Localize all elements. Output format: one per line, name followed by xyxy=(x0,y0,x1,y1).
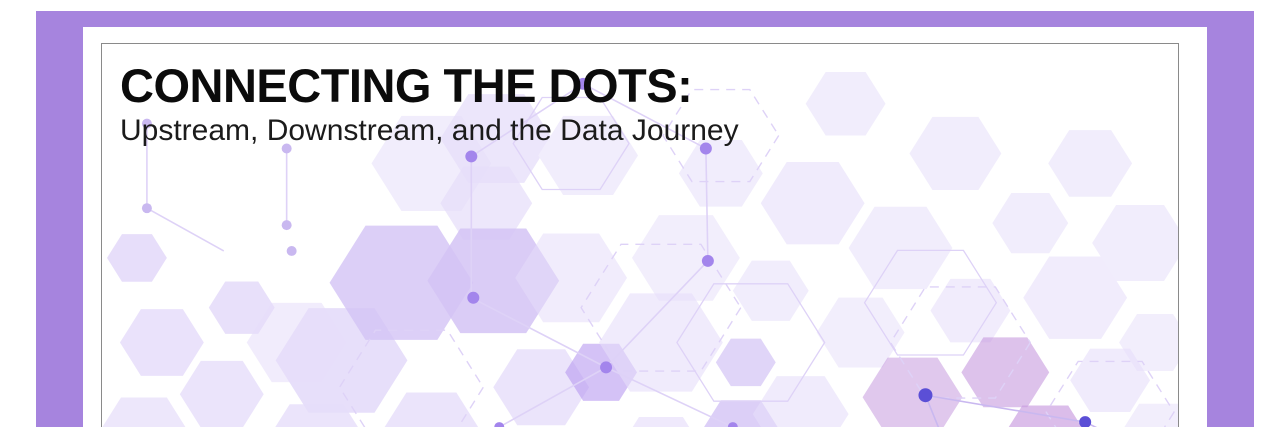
hexagon-shape xyxy=(276,308,408,413)
hexagon-shape xyxy=(1023,257,1127,339)
hexagon-shape xyxy=(679,140,763,207)
node-edge xyxy=(706,148,708,260)
hexagon-shape xyxy=(1118,404,1178,427)
hexagon-shape xyxy=(102,398,190,427)
hexagon-shape xyxy=(617,417,705,427)
hexagon-outline xyxy=(865,250,997,355)
page-title: CONNECTING THE DOTS: xyxy=(120,62,739,109)
hexagon-shape xyxy=(330,226,474,340)
title-block: CONNECTING THE DOTS: Upstream, Downstrea… xyxy=(120,62,739,147)
hexagon-shape xyxy=(806,72,886,135)
hexagon-shape xyxy=(263,404,371,427)
node-edge xyxy=(606,367,733,427)
node-edge xyxy=(606,261,708,367)
hexagon-shape xyxy=(381,392,481,427)
node-dot xyxy=(467,292,479,304)
hexagon-shape xyxy=(1092,205,1178,281)
hexagon-shape xyxy=(1119,314,1178,371)
hexagon-shape xyxy=(440,167,532,240)
node-dot xyxy=(1079,416,1091,427)
hexagon-shape xyxy=(493,349,589,425)
node-edge xyxy=(499,367,606,427)
hexagon-shape xyxy=(120,309,204,376)
slide-content-page: CONNECTING THE DOTS: Upstream, Downstrea… xyxy=(101,43,1179,427)
hexagon-shape xyxy=(701,400,781,427)
hexagon-shape xyxy=(761,162,865,244)
node-dot xyxy=(918,388,932,402)
node-edge xyxy=(147,208,224,251)
hexagon-dashed-outline xyxy=(340,330,484,427)
node-edge xyxy=(471,298,606,368)
hexagon-shape xyxy=(930,279,1010,342)
hexagon-shape xyxy=(909,117,1001,190)
hexagon-shape xyxy=(515,233,627,322)
hexagon-dashed-outline xyxy=(1046,361,1174,427)
slide-canvas: CONNECTING THE DOTS: Upstream, Downstrea… xyxy=(0,0,1280,427)
node-dot xyxy=(465,150,477,162)
page-subtitle: Upstream, Downstream, and the Data Journ… xyxy=(120,115,739,147)
node-dot xyxy=(600,361,612,373)
hexagon-dashed-outline xyxy=(581,244,741,371)
hexagon-shape xyxy=(753,376,849,427)
hexagon-shape xyxy=(1048,130,1132,197)
hexagon-dashed-outline xyxy=(891,287,1031,398)
hexagon-outline xyxy=(677,284,825,401)
hexagon-shape xyxy=(961,337,1049,407)
hexagon-shape xyxy=(247,303,347,382)
hexagon-shape xyxy=(565,344,637,401)
node-edge xyxy=(1085,422,1163,427)
hexagon-shape xyxy=(180,361,264,427)
hexagon-shape xyxy=(107,234,167,282)
hexagon-shape xyxy=(863,358,963,427)
node-dot xyxy=(287,246,297,256)
hexagon-shape xyxy=(849,207,953,289)
hexagon-shape xyxy=(817,298,905,368)
node-dot xyxy=(702,255,714,267)
hexagon-shape xyxy=(1070,349,1150,412)
hexagon-shape xyxy=(427,228,559,333)
node-dot xyxy=(494,422,504,427)
hexagon-shape xyxy=(733,261,809,321)
node-edge xyxy=(925,395,1085,422)
node-dot xyxy=(142,203,152,213)
node-edge xyxy=(925,395,952,427)
hexagon-shape xyxy=(209,282,275,334)
node-dot xyxy=(282,220,292,230)
hexagon-shape xyxy=(999,405,1091,427)
hexagon-shape xyxy=(632,215,740,301)
hexagon-shape xyxy=(992,193,1068,253)
node-dot xyxy=(728,422,738,427)
hexagon-shape xyxy=(716,339,776,387)
hexagon-shape xyxy=(599,293,723,391)
